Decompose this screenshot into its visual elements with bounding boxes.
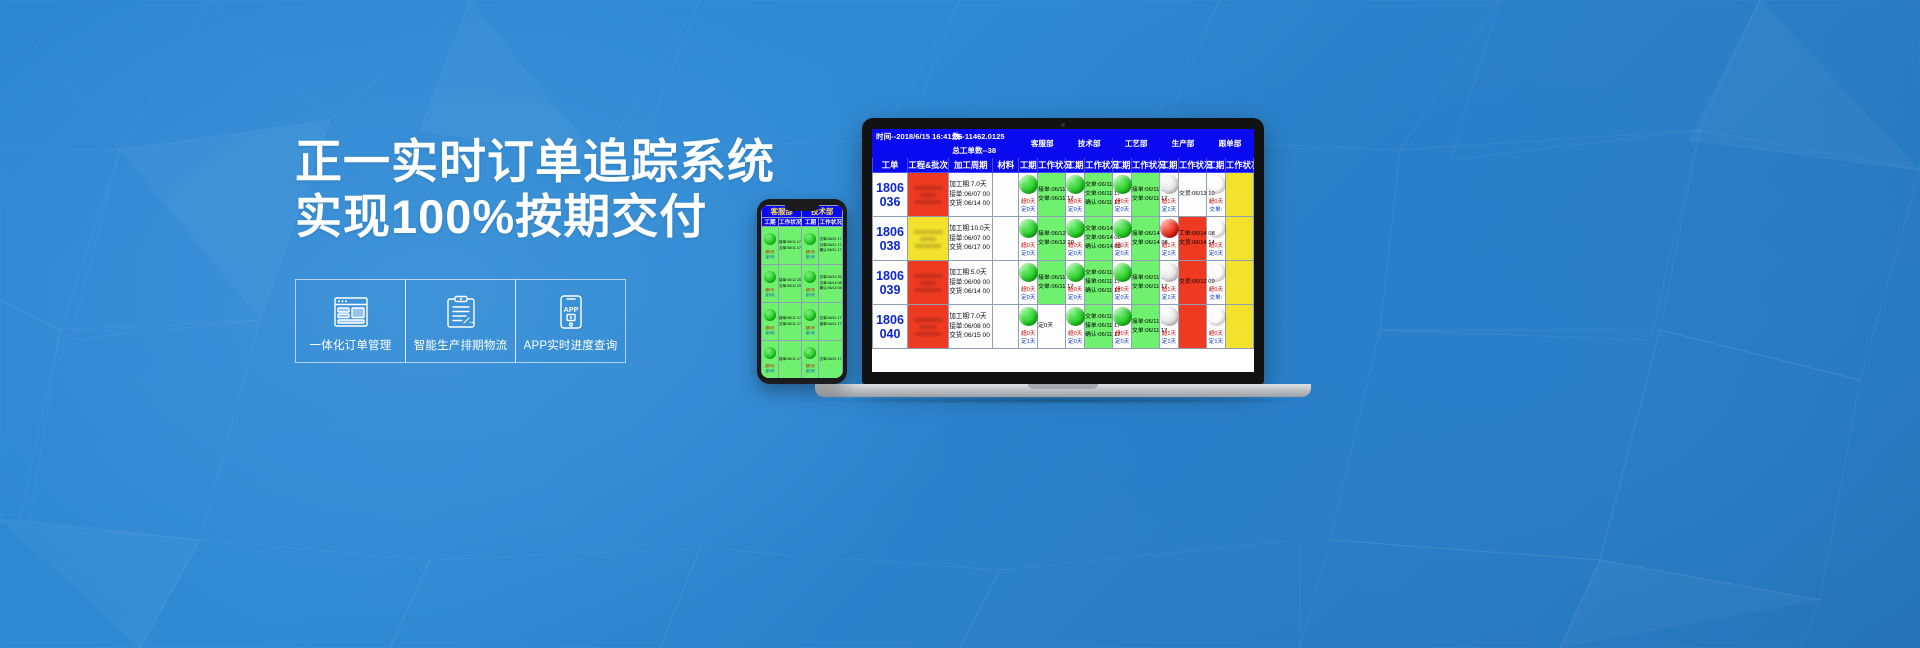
status-light-green xyxy=(1019,219,1038,238)
over-days-tag: 超0天 xyxy=(1113,199,1131,207)
status-light-green xyxy=(1113,175,1132,194)
laptop-screen: 时间--2018/6/15 16:41:36 数--11462.0125 客服部… xyxy=(872,129,1254,372)
status-light-green xyxy=(1113,307,1132,326)
phone-right-work-status-cell: 交单:06/11 17交单:06/11 17确认:06/11 17 xyxy=(819,227,843,265)
dashboard-window-icon xyxy=(334,292,368,332)
dept-work-status-cell-3: 交货:06/13 10 xyxy=(1178,173,1206,217)
dept-period-cell-4: 超0天定0天 xyxy=(1206,217,1225,261)
phone-status-light xyxy=(804,271,816,283)
table-body: 1806036加工期:7.0天接单:06/07 00交货:06/14 00超0天… xyxy=(873,173,1254,349)
dept-header-1: 技术部 xyxy=(1066,130,1113,158)
dept-work-status-cell-4 xyxy=(1225,173,1253,217)
hero-copy: 正一实时订单追踪系统 实现100%按期交付 xyxy=(295,134,715,363)
dept-work-status-cell-0: 接单:06/11 17交单:06/11 17 xyxy=(1038,173,1066,217)
dept-period-cell-1: 超0天定0天 xyxy=(1066,173,1085,217)
fixed-days-tag: 定0天 xyxy=(1019,251,1037,259)
phone-table-row[interactable]: 超0天定0天接单:06/11 17交单:06/11 17超0天定0天交单:06/… xyxy=(762,303,843,341)
project-batch-cell xyxy=(908,173,949,217)
dept-work-status-cell-3: 工单:06/14 08交货:06/14 14 xyxy=(1178,217,1206,261)
dept-work-status-cell-1: 交单:06/11 17接单:06/11 17确认:06/11 17 xyxy=(1085,261,1113,305)
col-cycle: 加工周期 xyxy=(949,158,993,173)
dept-period-cell-4: 超0天定1天 xyxy=(1206,305,1225,349)
dept-period-cell-0: 超0天定0天 xyxy=(1019,261,1038,305)
feature-card-production-schedule[interactable]: 智能生产排期物流 xyxy=(405,279,516,363)
fixed-days-tag: 定0天 xyxy=(1066,339,1084,347)
phone-fixed-days-tag: 定0天 xyxy=(762,369,778,374)
col-status-1: 工作状况 xyxy=(1085,158,1113,173)
feature-card-label: 一体化订单管理 xyxy=(310,337,392,353)
fixed-days-tag: 交单: xyxy=(1207,295,1225,303)
fixed-days-tag: 定1天 xyxy=(1207,339,1225,347)
dept-period-cell-0: 超0天定0天 xyxy=(1019,217,1038,261)
phone-right-period-cell: 超0天定0天 xyxy=(802,341,819,379)
dept-header-4: 跟单部 xyxy=(1206,130,1253,158)
processing-cycle-cell: 加工期:7.0天接单:06/07 00交货:06/14 00 xyxy=(949,173,993,217)
phone-left-work-status-cell: 接单:06/12 20交单:06/12 20 xyxy=(779,265,802,303)
dept-work-status-cell-2: 接单:06/14 08交单:06/14 08 xyxy=(1132,217,1160,261)
phone-left-period-cell: 超0天定0天 xyxy=(762,341,779,379)
feature-card-label: APP实时进度查询 xyxy=(524,337,618,353)
project-batch-cell xyxy=(908,305,949,349)
page-title: 正一实时订单追踪系统 实现100%按期交付 xyxy=(295,134,715,245)
dept-work-status-cell-2: 接单:06/11 17交单:06/11 17 xyxy=(1132,261,1160,305)
phone-status-light xyxy=(804,309,816,321)
dept-period-cell-3: 超1天定1天 xyxy=(1160,173,1179,217)
phone-left-period-cell: 超0天定0天 xyxy=(762,227,779,265)
meta-total: 总工单数--38 xyxy=(949,144,1019,158)
col-period-0: 工期 xyxy=(1019,158,1038,173)
material-cell xyxy=(993,305,1019,349)
laptop-base xyxy=(815,384,1311,397)
dept-period-cell-1: 超0天定0天 xyxy=(1066,217,1085,261)
phone-order-table: 客服部 技术部 工期 工作状况 工期 工作状况 超0天定0天接单:06/11 1… xyxy=(761,205,843,378)
dept-work-status-cell-4 xyxy=(1225,305,1253,349)
dept-period-cell-2: 超0天定0天 xyxy=(1113,217,1132,261)
dept-period-cell-1: 超0天定0天 xyxy=(1066,261,1085,305)
status-light-green xyxy=(1019,307,1038,326)
headline-line-1: 正一实时订单追踪系统 xyxy=(295,135,775,188)
phone-left-period-cell: 超0天定0天 xyxy=(762,265,779,303)
over-days-tag: 超0天 xyxy=(1066,199,1084,207)
over-days-tag: 超0天 xyxy=(1019,287,1037,295)
processing-cycle-cell: 加工期:10.0天接单:06/07 00交货:06/17 00 xyxy=(949,217,993,261)
status-light-green xyxy=(1066,263,1085,282)
over-days-tag: 超1天 xyxy=(1160,331,1178,339)
order-number-cell: 1806036 xyxy=(873,173,908,217)
phone-fixed-days-tag: 定0天 xyxy=(802,369,818,374)
phone-notch xyxy=(785,205,819,211)
material-cell xyxy=(993,173,1019,217)
phone-fixed-days-tag: 定0天 xyxy=(802,331,818,336)
dept-period-cell-0: 超0天定0天 xyxy=(1019,173,1038,217)
table-column-header-row: 工单 工程&批次 加工周期 材料 工期 工作状况 工期 工作状况 工期 工作状况… xyxy=(873,158,1254,173)
phone-fixed-days-tag: 定0天 xyxy=(762,255,778,260)
phone-status-light xyxy=(764,347,776,359)
phone-right-work-status-cell: 交单:06/11 17接单:06/11 17 xyxy=(819,303,843,341)
over-days-tag: 超0天 xyxy=(1066,243,1084,251)
phone-col-3: 工作状况 xyxy=(819,218,843,227)
processing-cycle-cell: 加工期:5.0天接单:06/09 00交货:06/14 00 xyxy=(949,261,993,305)
fixed-days-tag: 定1天 xyxy=(1160,251,1178,259)
laptop-mockup: 时间--2018/6/15 16:41:36 数--11462.0125 客服部… xyxy=(862,118,1323,404)
fixed-days-tag: 定0天 xyxy=(1019,295,1037,303)
phone-right-work-status-cell: 交单:06/12 20交单:06/14 08确认:06/14 08 xyxy=(819,265,843,303)
feature-card-order-management[interactable]: 一体化订单管理 xyxy=(295,279,406,363)
col-period-2: 工期 xyxy=(1113,158,1132,173)
over-days-tag: 超0天 xyxy=(1207,331,1225,339)
status-light-grey xyxy=(1160,175,1179,194)
phone-status-light xyxy=(764,271,776,283)
processing-cycle-cell: 加工期:7.0天接单:06/08 00交货:06/15 00 xyxy=(949,305,993,349)
phone-status-light xyxy=(764,309,776,321)
dept-period-cell-4: 超0天交单: xyxy=(1206,261,1225,305)
status-light-green xyxy=(1066,219,1085,238)
phone-status-light xyxy=(764,233,776,245)
phone-left-work-status-cell: 接单:06/11 17 xyxy=(779,341,802,379)
project-batch-cell xyxy=(908,217,949,261)
dept-work-status-cell-1: 交单:06/11 17交单:06/11 17确认:06/11 17 xyxy=(1085,173,1113,217)
dept-work-status-cell-4 xyxy=(1225,217,1253,261)
order-number-cell: 1806039 xyxy=(873,261,908,305)
fixed-days-tag: 交单: xyxy=(1207,207,1225,215)
dept-work-status-cell-1: 交单:06/11 17接单:06/11 17确认:06/11 17 xyxy=(1085,305,1113,349)
col-status-2: 工作状况 xyxy=(1132,158,1160,173)
over-days-tag: 超0天 xyxy=(1019,243,1037,251)
status-light-green xyxy=(1113,263,1132,282)
laptop-lid: 时间--2018/6/15 16:41:36 数--11462.0125 客服部… xyxy=(862,118,1264,384)
phone-body: 客服部 技术部 工期 工作状况 工期 工作状况 超0天定0天接单:06/11 1… xyxy=(757,199,847,384)
fixed-days-tag: 定0天 xyxy=(1066,295,1084,303)
phone-fixed-days-tag: 定0天 xyxy=(802,293,818,298)
over-days-tag: 超0天 xyxy=(1207,199,1225,207)
table-row[interactable]: 1806040加工期:7.0天接单:06/08 00交货:06/15 00超0天… xyxy=(873,305,1254,349)
phone-table-row[interactable]: 超0天定0天接单:06/11 17交单:06/11 17超0天定0天交单:06/… xyxy=(762,227,843,265)
dept-work-status-cell-0: 接单:06/11 17交单:06/11 17 xyxy=(1038,261,1066,305)
phone-screen: 客服部 技术部 工期 工作状况 工期 工作状况 超0天定0天接单:06/11 1… xyxy=(761,205,843,378)
material-cell xyxy=(993,217,1019,261)
dept-period-cell-2: 超0天定0天 xyxy=(1113,305,1132,349)
status-light-green xyxy=(1066,175,1085,194)
phone-right-period-cell: 超0天定0天 xyxy=(802,227,819,265)
phone-mockup: 客服部 技术部 工期 工作状况 工期 工作状况 超0天定0天接单:06/11 1… xyxy=(757,199,847,384)
dept-period-cell-1: 超0天定0天 xyxy=(1066,305,1085,349)
hero-banner: 正一实时订单追踪系统 实现100%按期交付 xyxy=(0,0,1920,648)
dept-work-status-cell-0: 接单:06/12 20交单:06/12 20 xyxy=(1038,217,1066,261)
status-light-green xyxy=(1113,219,1132,238)
status-light-yellow xyxy=(1207,175,1226,194)
dept-period-cell-3: 超1天定1天 xyxy=(1160,217,1179,261)
laptop-shadow xyxy=(803,397,1323,404)
phone-table-row[interactable]: 超0天定0天接单:06/11 17超0天定0天交单:06/11 17 xyxy=(762,341,843,379)
fixed-days-tag: 定0天 xyxy=(1113,339,1131,347)
over-days-tag: 超0天 xyxy=(1066,287,1084,295)
fixed-days-tag: 定0天 xyxy=(1113,295,1131,303)
phone-col-1: 工作状况 xyxy=(779,218,802,227)
col-status-0: 工作状况 xyxy=(1038,158,1066,173)
feature-card-app-progress[interactable]: APP APP实时进度查询 xyxy=(515,279,626,363)
table-row[interactable]: 1806039加工期:5.0天接单:06/09 00交货:06/14 00超0天… xyxy=(873,261,1254,305)
headline-line-2: 实现100%按期交付 xyxy=(295,189,715,244)
dept-period-cell-3: 超1天定1天 xyxy=(1160,305,1179,349)
order-tracking-table: 时间--2018/6/15 16:41:36 数--11462.0125 客服部… xyxy=(872,129,1254,349)
over-days-tag: 超0天 xyxy=(1113,243,1131,251)
phone-fixed-days-tag: 定0天 xyxy=(762,331,778,336)
order-number-cell: 1806040 xyxy=(873,305,908,349)
dept-work-status-cell-3 xyxy=(1178,305,1206,349)
app-badge-text: APP xyxy=(563,305,578,314)
table-row[interactable]: 1806036加工期:7.0天接单:06/07 00交货:06/14 00超0天… xyxy=(873,173,1254,217)
phone-right-period-cell: 超0天定0天 xyxy=(802,265,819,303)
over-days-tag: 超0天 xyxy=(1113,287,1131,295)
fixed-days-tag: 定0天 xyxy=(1066,251,1084,259)
dept-work-status-cell-1: 交单:06/14 08交单:06/14 08确认:06/14 08 xyxy=(1085,217,1113,261)
col-period-4: 工期 xyxy=(1206,158,1225,173)
phone-fixed-days-tag: 定0天 xyxy=(802,255,818,260)
mobile-app-icon: APP xyxy=(558,292,584,332)
phone-right-work-status-cell: 交单:06/11 17 xyxy=(819,341,843,379)
status-light-green xyxy=(1019,175,1038,194)
col-period-3: 工期 xyxy=(1160,158,1179,173)
material-cell xyxy=(993,261,1019,305)
over-days-tag: 超0天 xyxy=(1207,243,1225,251)
fixed-days-tag: 定0天 xyxy=(1207,251,1225,259)
over-days-tag: 超1天 xyxy=(1160,287,1178,295)
feature-card-label: 智能生产排期物流 xyxy=(414,337,508,353)
phone-col-2: 工期 xyxy=(802,218,819,227)
over-days-tag: 超0天 xyxy=(1019,199,1037,207)
fixed-days-tag: 定1天 xyxy=(1160,295,1178,303)
status-light-grey xyxy=(1160,263,1179,282)
status-light-yellow xyxy=(1207,307,1226,326)
status-light-grey xyxy=(1160,307,1179,326)
phone-col-0: 工期 xyxy=(762,218,779,227)
col-material: 材料 xyxy=(993,158,1019,173)
order-number-cell: 1806038 xyxy=(873,217,908,261)
dept-period-cell-2: 超0天定0天 xyxy=(1113,173,1132,217)
meta-blank xyxy=(873,144,949,158)
dept-work-status-cell-4 xyxy=(1225,261,1253,305)
over-days-tag: 超0天 xyxy=(1113,331,1131,339)
fixed-days-tag: 定0天 xyxy=(1066,207,1084,215)
col-order-no: 工单 xyxy=(873,158,908,173)
dept-header-2: 工艺部 xyxy=(1113,130,1160,158)
col-status-4: 工作状况 xyxy=(1225,158,1253,173)
phone-column-header-row: 工期 工作状况 工期 工作状况 xyxy=(762,218,843,227)
over-days-tag: 超0天 xyxy=(1019,331,1037,339)
project-batch-cell xyxy=(908,261,949,305)
fixed-days-tag: 定1天 xyxy=(1160,207,1178,215)
phone-status-light xyxy=(804,233,816,245)
phone-fixed-days-tag: 定0天 xyxy=(762,293,778,298)
dept-period-cell-3: 超1天定1天 xyxy=(1160,261,1179,305)
table-meta-row: 时间--2018/6/15 16:41:36 数--11462.0125 客服部… xyxy=(873,130,1254,144)
over-days-tag: 超0天 xyxy=(1066,331,1084,339)
status-light-red xyxy=(1160,219,1179,238)
over-days-tag: 超0天 xyxy=(1207,287,1225,295)
status-light-green xyxy=(1066,307,1085,326)
phone-left-work-status-cell: 接单:06/11 17交单:06/11 17 xyxy=(779,227,802,265)
dept-work-status-cell-0: 定0天 xyxy=(1038,305,1066,349)
fixed-days-tag: 定0天 xyxy=(1019,207,1037,215)
dept-period-cell-0: 超0天定1天 xyxy=(1019,305,1038,349)
dept-work-status-cell-3: 交货:06/12 09 xyxy=(1178,261,1206,305)
phone-status-light xyxy=(804,347,816,359)
dept-period-cell-4: 超0天交单: xyxy=(1206,173,1225,217)
status-light-yellow xyxy=(1207,263,1226,282)
status-light-green xyxy=(1019,263,1038,282)
meta-time: 时间--2018/6/15 16:41:36 xyxy=(873,130,949,144)
fixed-days-tag: 定1天 xyxy=(1019,339,1037,347)
meta-count: 数--11462.0125 xyxy=(949,130,1019,144)
col-project: 工程&批次 xyxy=(908,158,949,173)
status-light-yellow xyxy=(1207,219,1226,238)
fixed-days-tag: 定0天 xyxy=(1113,251,1131,259)
dept-period-cell-2: 超0天定0天 xyxy=(1113,261,1132,305)
dept-work-status-cell-2: 接单:06/11 17交单:06/11 17 xyxy=(1132,173,1160,217)
fixed-days-tag: 定1天 xyxy=(1160,339,1178,347)
over-days-tag: 超1天 xyxy=(1160,199,1178,207)
dept-work-status-cell-2: 接单:06/11 17交单:06/11 17 xyxy=(1132,305,1160,349)
over-days-tag: 超1天 xyxy=(1160,243,1178,251)
phone-table-body: 超0天定0天接单:06/11 17交单:06/11 17超0天定0天交单:06/… xyxy=(762,227,843,379)
table-row[interactable]: 1806038加工期:10.0天接单:06/07 00交货:06/17 00超0… xyxy=(873,217,1254,261)
phone-left-period-cell: 超0天定0天 xyxy=(762,303,779,341)
phone-left-work-status-cell: 接单:06/11 17交单:06/11 17 xyxy=(779,303,802,341)
fixed-days-tag: 定0天 xyxy=(1113,207,1131,215)
clipboard-checklist-icon xyxy=(446,292,476,332)
feature-card-list: 一体化订单管理 xyxy=(295,279,715,363)
col-status-3: 工作状况 xyxy=(1178,158,1206,173)
phone-table-row[interactable]: 超0天定0天接单:06/12 20交单:06/12 20超0天定0天交单:06/… xyxy=(762,265,843,303)
col-period-1: 工期 xyxy=(1066,158,1085,173)
dept-header-3: 生产部 xyxy=(1160,130,1207,158)
phone-right-period-cell: 超0天定0天 xyxy=(802,303,819,341)
dept-header-0: 客服部 xyxy=(1019,130,1066,158)
